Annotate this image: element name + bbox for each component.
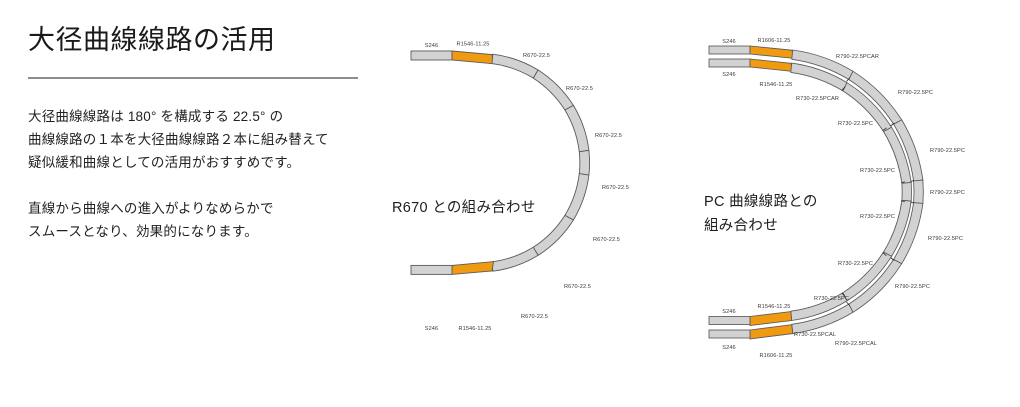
label-top-inner-straight: S246 bbox=[722, 72, 735, 78]
title-divider bbox=[28, 77, 358, 79]
label-bottom-transition: R1546-11.25 bbox=[458, 326, 491, 332]
label-inner-arc-4: R730-22.5PC bbox=[838, 261, 873, 267]
track-segment-straight-top-inner bbox=[709, 59, 750, 67]
label-top-outer-transition: R1606-11.25 bbox=[757, 38, 790, 44]
page-root: 大径曲線線路の活用 大径曲線線路は 180° を構成する 22.5° の 曲線線… bbox=[0, 0, 1020, 407]
label-arc-6: R670-22.5 bbox=[564, 284, 591, 290]
label-outer-arc-3: R790-22.5PC bbox=[930, 190, 965, 196]
label-top-outer-first-arc: R790-22.5PCAR bbox=[836, 54, 879, 60]
track-segment-arc-6 bbox=[533, 215, 573, 255]
body-line: スムースとなり、効果的になります。 bbox=[28, 220, 378, 243]
label-outer-arc-4: R790-22.5PC bbox=[928, 236, 963, 242]
track-segment-transition-top bbox=[452, 51, 494, 64]
label-inner-arc-last: R730-22.5PCAL bbox=[794, 332, 836, 338]
track-segment-transition-top-inner bbox=[750, 59, 792, 71]
label-arc-7: R670-22.5 bbox=[521, 314, 548, 320]
caption-pc-line2: 組み合わせ bbox=[704, 214, 818, 238]
label-top-inner-transition: R1546-11.25 bbox=[759, 82, 792, 88]
label-arc-2: R670-22.5 bbox=[566, 86, 593, 92]
label-arc-5: R670-22.5 bbox=[593, 237, 620, 243]
track-segment-arc-3 bbox=[565, 105, 589, 151]
label-top-transition: R1546-11.25 bbox=[456, 42, 489, 48]
label-bottom-outer-straight: S246 bbox=[722, 345, 735, 351]
label-inner-arc-5: R730-22.5PC bbox=[814, 296, 849, 302]
label-outer-arc-last: R790-22.5PCAL bbox=[835, 341, 877, 347]
body-paragraph-2: 直線から曲線への進入がよりなめらかで スムースとなり、効果的になります。 bbox=[28, 197, 378, 243]
label-inner-arc-3: R730-22.5PC bbox=[860, 214, 895, 220]
body-line: 曲線線路の１本を大径曲線線路２本に組み替えて bbox=[28, 128, 378, 151]
label-inner-arc-1: R730-22.5PC bbox=[838, 121, 873, 127]
label-top-straight: S246 bbox=[425, 43, 438, 49]
label-inner-arc-2: R730-22.5PC bbox=[860, 168, 895, 174]
body-paragraph-1: 大径曲線線路は 180° を構成する 22.5° の 曲線線路の１本を大径曲線線… bbox=[28, 105, 378, 174]
label-arc-1: R670-22.5 bbox=[523, 53, 550, 59]
track-segment-straight-top bbox=[411, 51, 452, 60]
body-line: 直線から曲線への進入がよりなめらかで bbox=[28, 197, 378, 220]
body-line: 大径曲線線路は 180° を構成する 22.5° の bbox=[28, 105, 378, 128]
track-segment-transition-bottom bbox=[452, 262, 494, 275]
label-top-inner-first-arc: R730-22.5PCAR bbox=[796, 96, 839, 102]
track-segment-arc-5 bbox=[565, 174, 589, 220]
label-outer-arc-5: R790-22.5PC bbox=[895, 284, 930, 290]
label-arc-3: R670-22.5 bbox=[595, 133, 622, 139]
track-segment-straight-bottom bbox=[411, 265, 452, 274]
label-bottom-inner-transition: R1546-11.25 bbox=[757, 304, 790, 310]
page-title: 大径曲線線路の活用 bbox=[28, 24, 378, 58]
track-segment-arc-7 bbox=[492, 247, 538, 271]
label-top-outer-straight: S246 bbox=[722, 39, 735, 45]
track-segment-transition-bottom-inner bbox=[750, 312, 792, 326]
track-segment-straight-bottom-inner bbox=[709, 317, 750, 325]
paragraph-spacer bbox=[28, 174, 378, 197]
track-segment-inner-arc-3 bbox=[902, 183, 912, 202]
label-bottom-outer-transition: R1606-11.25 bbox=[759, 353, 792, 359]
track-segment-transition-top-outer bbox=[750, 46, 793, 58]
label-bottom-inner-straight: S246 bbox=[722, 309, 735, 315]
body-line: 疑似緩和曲線としての活用がおすすめです。 bbox=[28, 151, 378, 174]
track-segment-straight-top-outer bbox=[709, 46, 750, 54]
track-segment-outer-arc-3 bbox=[914, 180, 924, 203]
label-arc-4: R670-22.5 bbox=[602, 185, 629, 191]
track-segment-transition-bottom-outer bbox=[750, 325, 793, 339]
label-outer-arc-1: R790-22.5PC bbox=[898, 90, 933, 96]
label-bottom-straight: S246 bbox=[425, 326, 438, 332]
left-text-panel: 大径曲線線路の活用 大径曲線線路は 180° を構成する 22.5° の 曲線線… bbox=[28, 24, 378, 243]
caption-r670: R670 との組み合わせ bbox=[392, 196, 536, 220]
caption-pc-line1: PC 曲線線路との bbox=[704, 190, 818, 214]
label-outer-arc-2: R790-22.5PC bbox=[930, 148, 965, 154]
track-segment-straight-bottom-outer bbox=[709, 330, 750, 338]
caption-pc: PC 曲線線路との 組み合わせ bbox=[704, 190, 818, 238]
track-segment-arc-4 bbox=[579, 150, 589, 175]
